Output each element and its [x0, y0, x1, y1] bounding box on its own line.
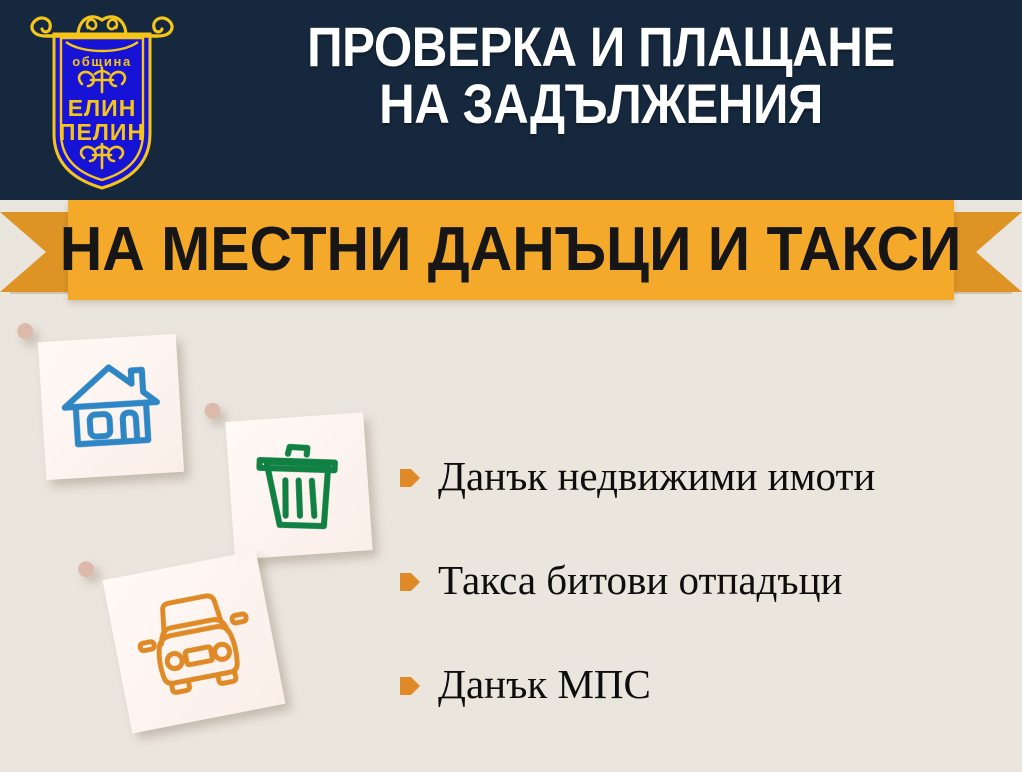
- house-icon: [53, 349, 170, 466]
- crest-name-line2: ПЕЛИН: [59, 119, 145, 145]
- ribbon-banner: НА МЕСТНИ ДАНЪЦИ И ТАКСИ: [0, 198, 1022, 308]
- arrow-bullet-icon: [400, 571, 420, 593]
- list-item[interactable]: Такса битови отпадъци: [400, 528, 1010, 632]
- stamp-property-tax: [17, 313, 206, 502]
- poster-root: община ЕЛИН ПЕЛИН ПРОВЕРКА: [0, 0, 1022, 772]
- list-item[interactable]: Данък МПС: [400, 632, 1010, 736]
- arrow-bullet-icon: [400, 675, 420, 697]
- page-title-line-1: ПРОВЕРКА И ПЛАЩАНЕ: [231, 18, 972, 75]
- list-item[interactable]: Данък недвижими имоти: [400, 424, 1010, 528]
- crest-name-line1: ЕЛИН: [68, 95, 137, 121]
- tax-type-list: Данък недвижими имоти Такса битови отпад…: [400, 424, 1010, 736]
- arrow-bullet-icon: [400, 467, 420, 489]
- list-item-label: Данък МПС: [438, 664, 651, 705]
- list-item-label: Такса битови отпадъци: [438, 560, 842, 601]
- page-title: ПРОВЕРКА И ПЛАЩАНЕ НА ЗАДЪЛЖЕНИЯ: [231, 18, 972, 132]
- stamp-vehicle-tax: [77, 525, 311, 759]
- ribbon-subtitle: НА МЕСТНИ ДАНЪЦИ И ТАКСИ: [60, 219, 962, 281]
- municipality-crest-logo: община ЕЛИН ПЕЛИН: [22, 6, 182, 194]
- page-title-line-2: НА ЗАДЪЛЖЕНИЯ: [231, 75, 972, 132]
- header-band: община ЕЛИН ПЕЛИН ПРОВЕРКА: [0, 0, 1022, 200]
- car-icon: [126, 576, 263, 708]
- ribbon-main-panel: НА МЕСТНИ ДАНЪЦИ И ТАКСИ: [68, 200, 954, 300]
- list-item-label: Данък недвижими имоти: [438, 456, 875, 497]
